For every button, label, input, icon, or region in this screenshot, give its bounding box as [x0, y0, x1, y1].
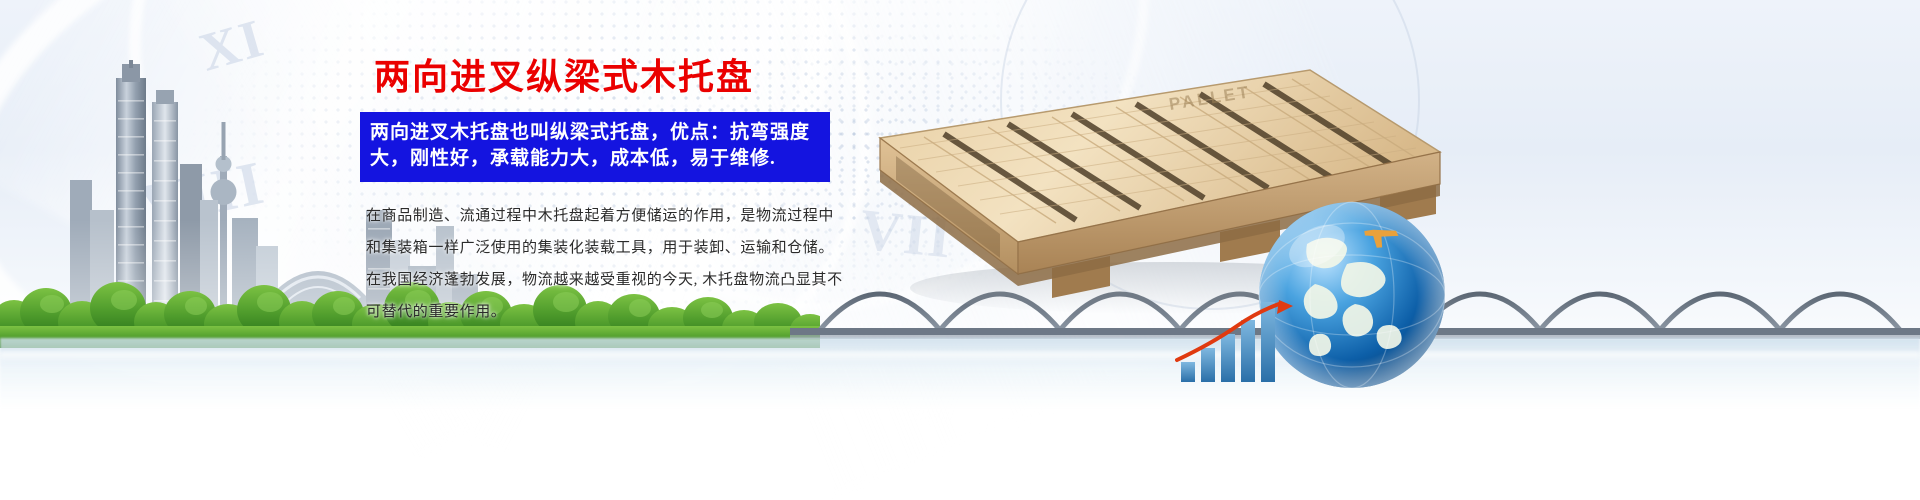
page-title: 两向进叉纵梁式木托盘	[374, 48, 860, 100]
clock-ring-icon	[1000, 0, 1420, 310]
body-line: 在我国经济蓬勃发展，物流越来越受重视的今天, 木托盘物流凸显其不	[366, 264, 860, 296]
pallet-stencil-text: PALLET	[1168, 82, 1253, 114]
highlight-line: 大，刚性好，承载能力大，成本低，易于维修.	[370, 146, 820, 172]
water-reflection	[0, 338, 1920, 408]
growth-chart-graphic	[1175, 300, 1310, 382]
airplane-icon	[1361, 222, 1400, 253]
body-line: 可替代的重要作用。	[366, 296, 860, 328]
banner-text-block: 两向进叉纵梁式木托盘 两向进叉木托盘也叫纵梁式托盘，优点：抗弯强度 大，刚性好，…	[360, 48, 860, 328]
roman-numeral-decoration: XI	[193, 6, 272, 83]
water-highlight-line	[0, 352, 1920, 364]
highlight-callout-box: 两向进叉木托盘也叫纵梁式托盘，优点：抗弯强度 大，刚性好，承载能力大，成本低，易…	[360, 112, 830, 182]
growth-arrow-icon	[1177, 300, 1293, 360]
body-line: 和集装箱一样广泛使用的集装化装载工具，用于装卸、运输和仓储。	[366, 232, 860, 264]
globe-icon	[1255, 198, 1450, 393]
body-paragraph: 在商品制造、流通过程中木托盘起着方便储运的作用，是物流过程中 和集装箱一样广泛使…	[366, 200, 860, 328]
bridge-illustration	[790, 248, 1920, 358]
chart-bars	[1181, 302, 1275, 382]
body-line: 在商品制造、流通过程中木托盘起着方便储运的作用，是物流过程中	[366, 200, 860, 232]
highlight-line: 两向进叉木托盘也叫纵梁式托盘，优点：抗弯强度	[370, 120, 820, 146]
roman-numeral-decoration: VII	[857, 195, 957, 271]
roman-numeral-decoration: VI	[1027, 107, 1086, 165]
wooden-pallet-photo: PALLET	[840, 60, 1460, 320]
roman-numeral-decoration: VIII	[134, 148, 271, 243]
product-banner: XI VIII VII VI	[0, 0, 1920, 500]
